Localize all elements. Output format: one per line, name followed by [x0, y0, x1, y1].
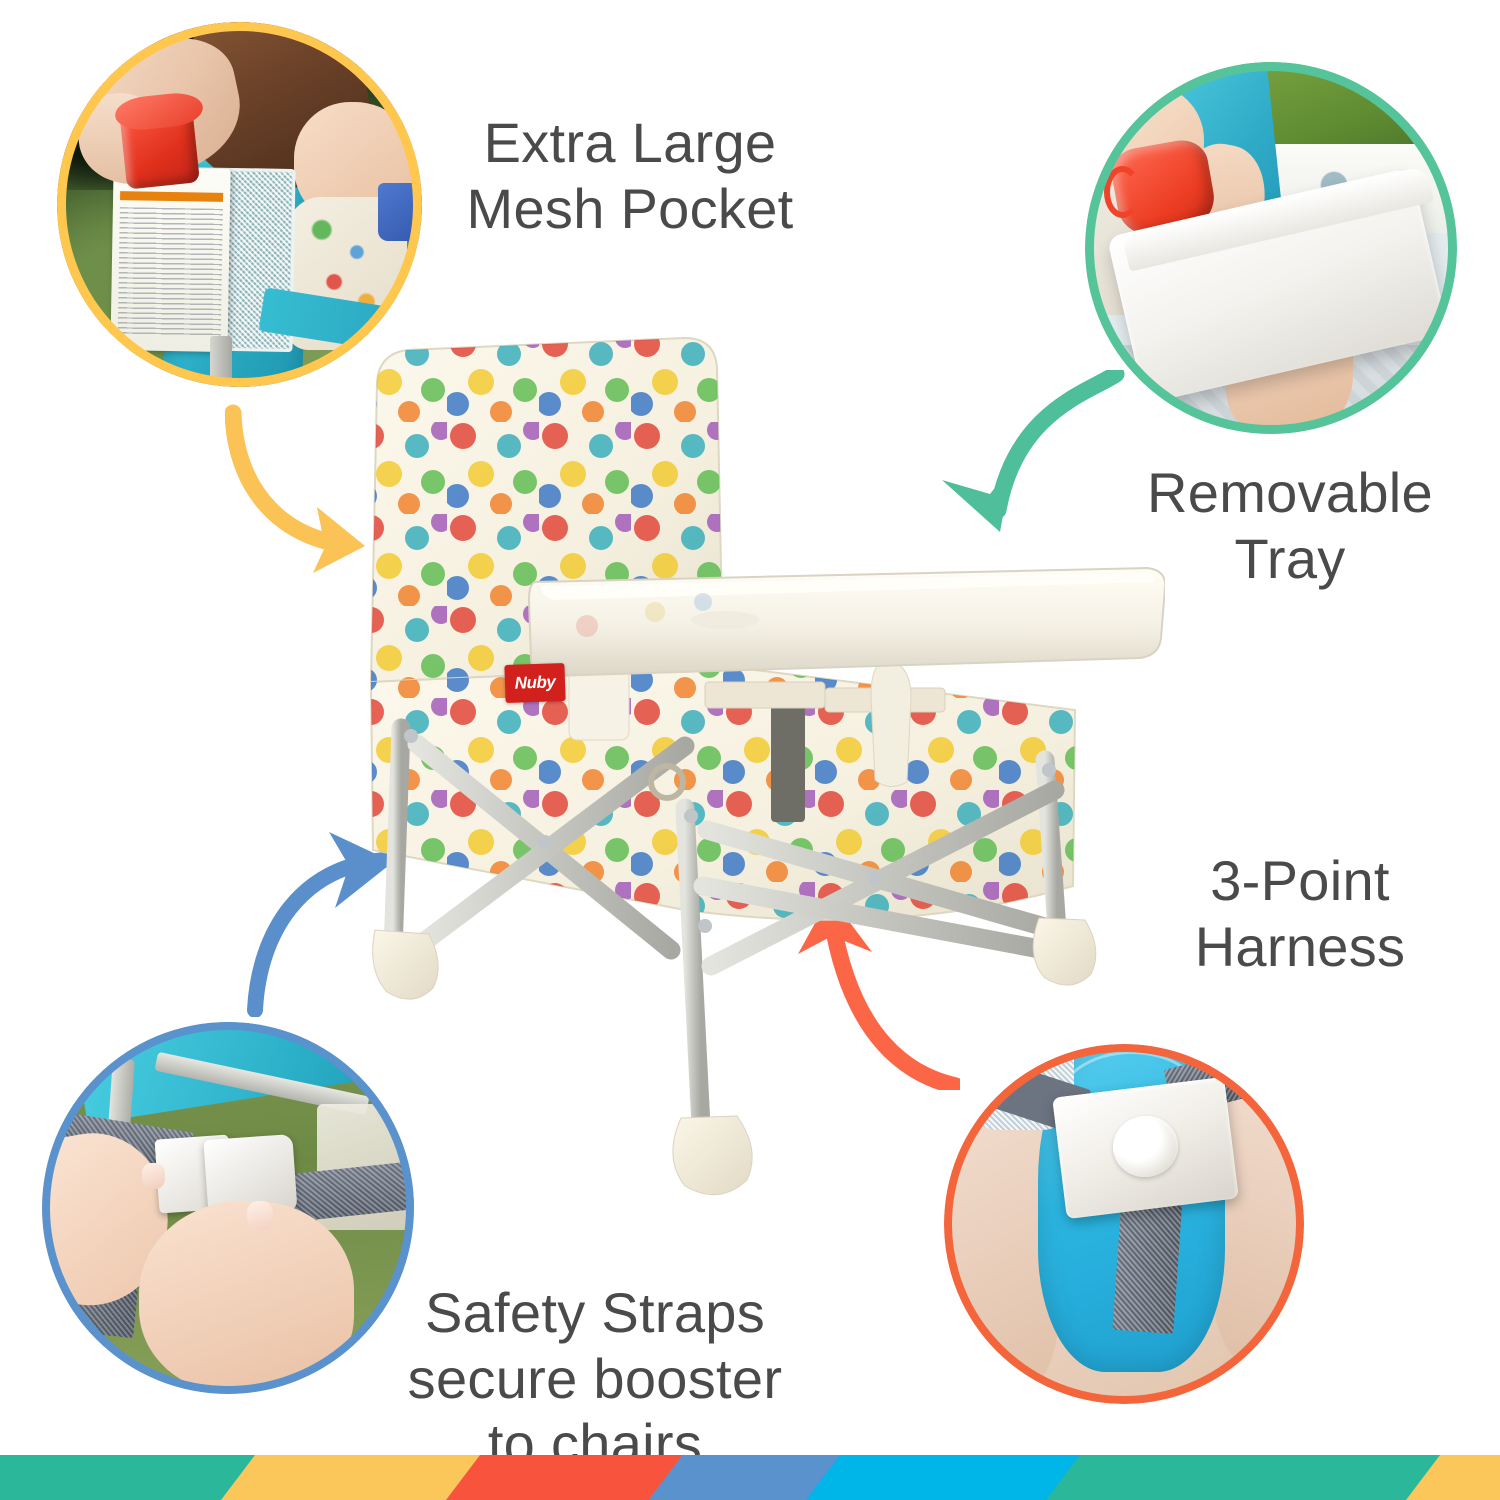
footer-segment-5 — [1046, 1455, 1474, 1500]
infographic-canvas: Nuby Extra Large Mesh Pocket Removable T… — [0, 0, 1500, 1500]
removable-tray — [529, 568, 1165, 676]
nuby-logo-tag: Nuby — [504, 663, 565, 703]
callout-label-mesh-pocket: Extra Large Mesh Pocket — [380, 110, 880, 241]
callout-label-removable-tray: Removable Tray — [1095, 460, 1485, 591]
product-booster-seat — [355, 330, 1165, 1210]
callout-label-safety-straps: Safety Straps secure booster to chairs — [360, 1280, 830, 1477]
nuby-logo-text: Nuby — [514, 672, 555, 693]
callout-label-three-point-harness: 3-Point Harness — [1120, 848, 1480, 979]
footer-color-bar — [0, 1455, 1500, 1500]
crotch-post — [871, 660, 911, 787]
